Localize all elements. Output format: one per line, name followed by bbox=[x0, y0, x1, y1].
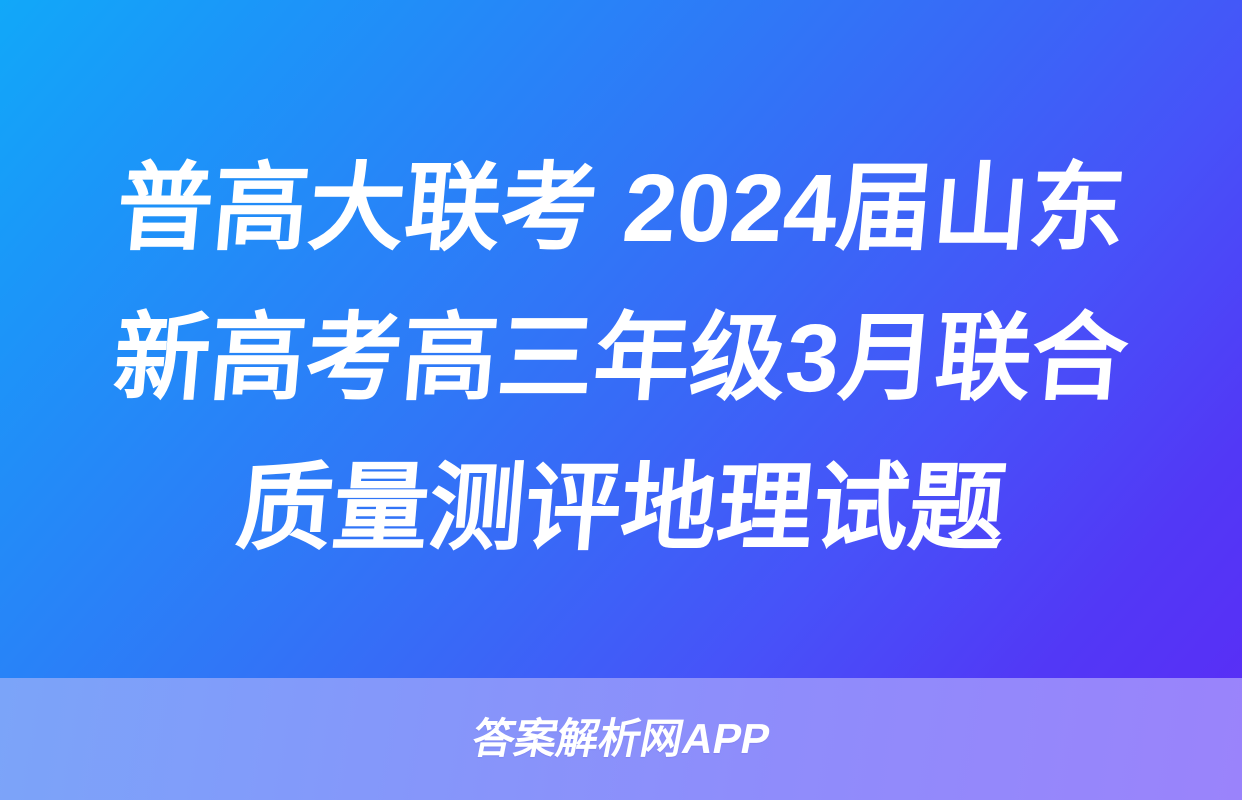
poster-title-block: 普高大联考 2024届山东 新高考高三年级3月联合 质量测评地理试题 bbox=[0, 0, 1242, 678]
page-title-line-2: 新高考高三年级3月联合 bbox=[108, 284, 1135, 434]
page-title-line-1: 普高大联考 2024届山东 bbox=[110, 134, 1131, 284]
watermark-band: 答案解析网APP bbox=[0, 678, 1242, 800]
exam-cover-poster: 普高大联考 2024届山东 新高考高三年级3月联合 质量测评地理试题 答案解析网… bbox=[0, 0, 1242, 800]
watermark-brand-label: 答案解析网APP bbox=[469, 718, 774, 760]
page-title-line-3: 质量测评地理试题 bbox=[230, 434, 1011, 584]
